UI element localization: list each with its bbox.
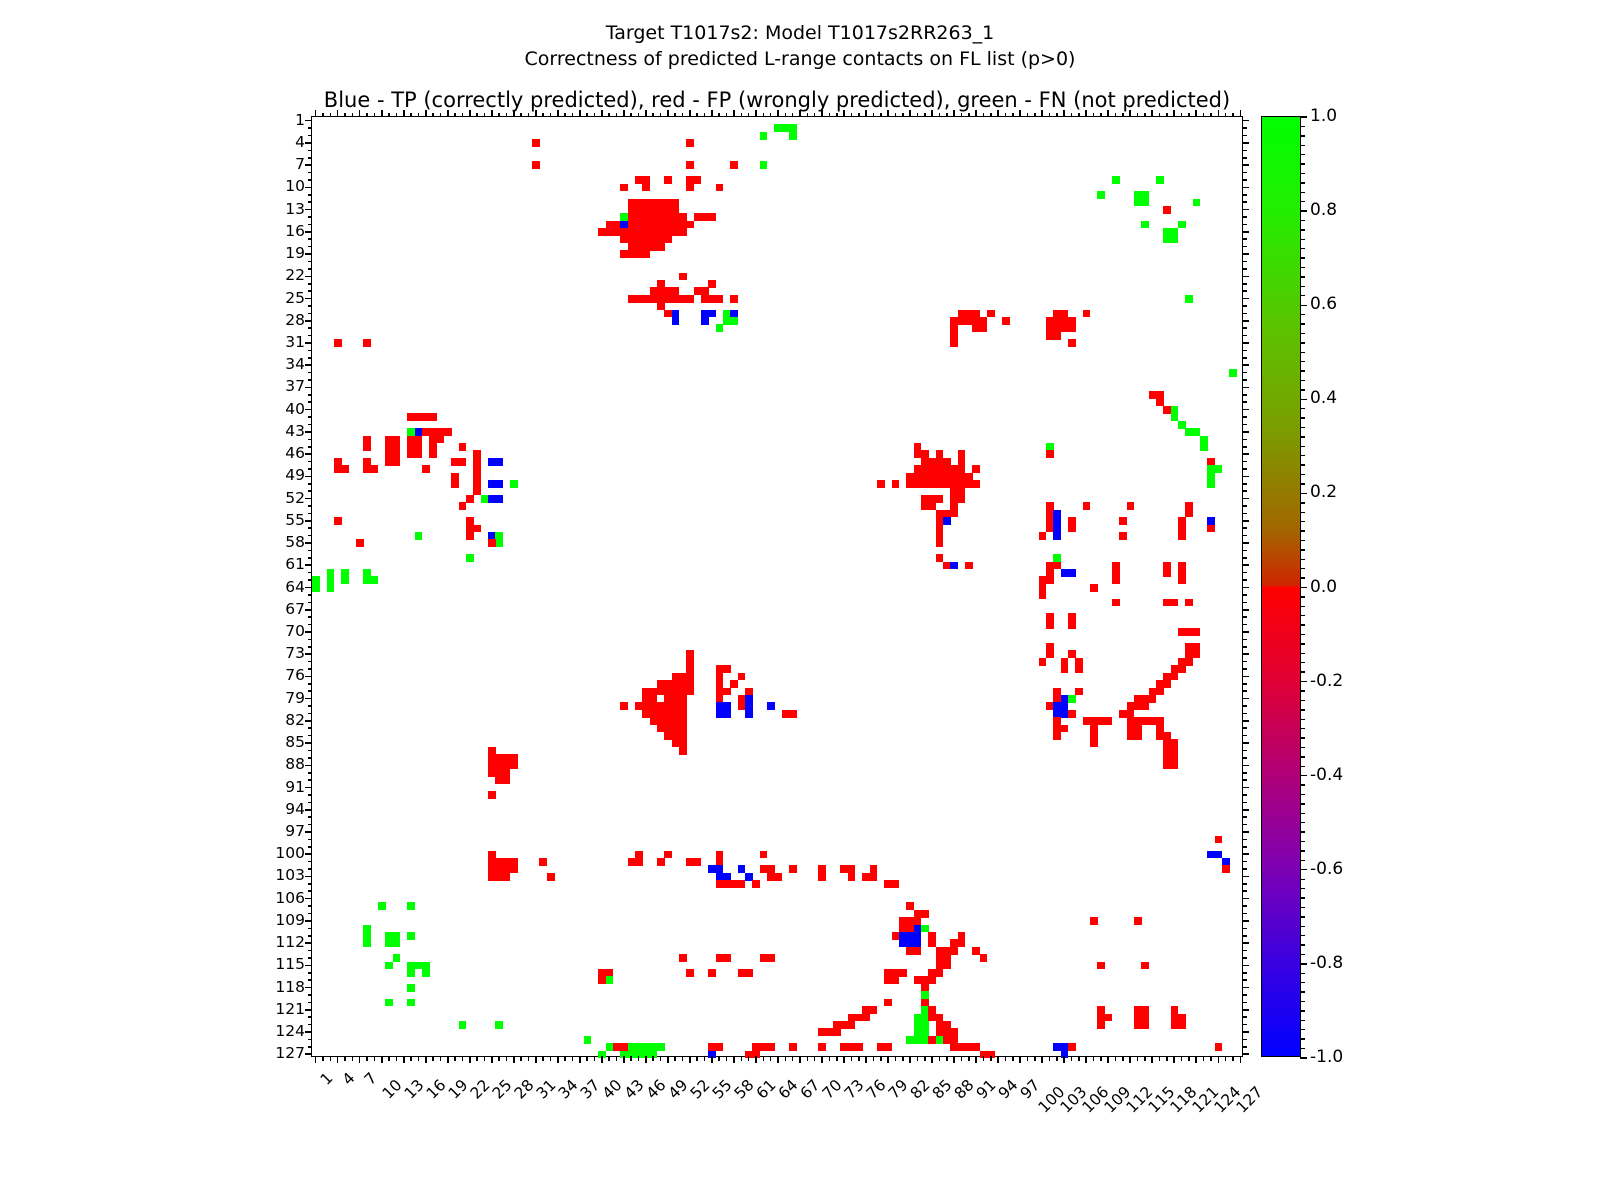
y-tick	[1242, 957, 1247, 959]
x-tick	[983, 1056, 985, 1061]
x-tick	[836, 113, 838, 118]
contact-cell-fn	[407, 999, 415, 1007]
x-tick	[520, 113, 522, 118]
y-tick	[1242, 150, 1247, 152]
y-tick	[1242, 127, 1247, 129]
colorbar-minor-tick	[1300, 474, 1305, 475]
x-tick	[352, 113, 354, 118]
x-tick	[396, 113, 398, 118]
contact-cell-fp	[789, 865, 797, 873]
x-tick	[924, 113, 926, 118]
contact-cell-fp	[488, 791, 496, 799]
y-tick	[305, 809, 312, 811]
y-axis-tick-label: 97	[285, 822, 305, 840]
x-tick	[601, 110, 603, 117]
y-tick	[305, 720, 312, 722]
y-tick	[1242, 1031, 1249, 1033]
x-tick	[520, 1056, 522, 1061]
contact-cell-fp	[422, 465, 430, 473]
y-tick	[1242, 816, 1247, 818]
y-axis-tick-label: 13	[285, 200, 305, 218]
contact-cell-fp	[334, 339, 342, 347]
x-tick	[983, 113, 985, 118]
y-tick	[305, 698, 312, 700]
contact-map-plot[interactable]	[311, 116, 1243, 1057]
figure-title-line2: Correctness of predicted L-range contact…	[0, 46, 1600, 72]
x-tick	[924, 1056, 926, 1061]
x-tick	[1166, 113, 1168, 118]
x-tick	[1159, 1056, 1161, 1061]
contact-cell-fp	[1075, 665, 1083, 673]
y-tick	[305, 142, 312, 144]
colorbar-minor-tick	[1300, 417, 1305, 418]
y-tick	[1242, 809, 1249, 811]
y-tick	[1242, 431, 1249, 433]
y-tick	[1242, 350, 1247, 352]
x-tick	[718, 113, 720, 118]
y-tick	[308, 683, 313, 685]
contact-cell-fp	[1163, 569, 1171, 577]
y-tick	[308, 639, 313, 641]
contact-cell-fp	[818, 1028, 840, 1036]
y-tick	[1242, 342, 1249, 344]
x-tick	[1181, 1056, 1183, 1061]
x-tick	[763, 1056, 765, 1061]
x-tick	[1203, 1056, 1205, 1061]
x-tick	[895, 113, 897, 118]
contact-cell-fp	[473, 450, 481, 473]
x-tick	[1122, 113, 1124, 118]
y-tick	[1242, 557, 1247, 559]
y-axis-tick-label: 64	[285, 578, 305, 596]
y-tick	[305, 320, 312, 322]
x-tick	[968, 113, 970, 118]
contact-cell-fp	[1163, 762, 1178, 770]
y-tick	[308, 816, 313, 818]
colorbar-minor-tick	[1300, 1029, 1305, 1030]
y-tick	[1242, 298, 1249, 300]
y-tick	[308, 216, 313, 218]
x-tick	[352, 1056, 354, 1061]
x-tick	[792, 1056, 794, 1061]
y-tick	[1242, 1053, 1249, 1055]
contact-cell-fp	[664, 176, 672, 184]
y-tick	[1242, 157, 1247, 159]
y-tick	[1242, 364, 1249, 366]
x-tick	[674, 1056, 676, 1061]
x-tick	[726, 1056, 728, 1061]
colorbar-minor-tick	[1300, 248, 1305, 249]
y-tick	[1242, 268, 1247, 270]
contact-cell-fp	[620, 702, 628, 710]
x-tick	[660, 1056, 662, 1061]
y-tick	[1242, 283, 1247, 285]
x-tick	[322, 1056, 324, 1061]
y-tick	[308, 283, 313, 285]
contact-cell-fn	[459, 1021, 467, 1029]
contact-cell-fp	[884, 999, 892, 1007]
colorbar-minor-tick	[1300, 719, 1305, 720]
contact-cell-fp	[877, 1043, 892, 1051]
contact-cell-fp	[1178, 628, 1200, 636]
y-tick	[308, 661, 313, 663]
colorbar-tick-label: -0.6	[1310, 859, 1343, 879]
y-tick	[1242, 564, 1249, 566]
x-tick	[887, 110, 889, 117]
x-tick	[682, 113, 684, 118]
contact-cell-fn	[393, 954, 401, 962]
colorbar-tick-label: 0.4	[1310, 388, 1337, 408]
contact-cell-fp	[1134, 917, 1142, 925]
y-tick	[305, 342, 312, 344]
x-tick	[1049, 113, 1051, 118]
colorbar-minor-tick	[1300, 286, 1305, 287]
x-tick	[344, 1056, 346, 1061]
contact-cell-fp	[1068, 1043, 1076, 1051]
colorbar-minor-tick	[1300, 747, 1305, 748]
contact-cell-fn	[1134, 191, 1149, 206]
colorbar-minor-tick	[1300, 850, 1305, 851]
contact-cell-fp	[972, 465, 980, 473]
colorbar-tick-label: 0.6	[1310, 294, 1337, 314]
colorbar-minor-tick	[1300, 568, 1305, 569]
y-tick	[1242, 750, 1247, 752]
colorbar-tick	[1300, 963, 1307, 964]
contact-cell-fn	[1229, 369, 1237, 377]
x-tick	[741, 113, 743, 118]
colorbar[interactable]	[1261, 116, 1301, 1057]
x-tick	[330, 1056, 332, 1061]
x-tick	[1100, 113, 1102, 118]
y-tick	[308, 994, 313, 996]
x-tick	[755, 110, 757, 117]
y-tick	[308, 416, 313, 418]
contact-cell-fp	[752, 880, 760, 888]
y-tick	[305, 520, 312, 522]
y-tick	[1242, 394, 1247, 396]
y-axis-tick-label: 88	[285, 755, 305, 773]
contact-cell-fp	[1083, 502, 1091, 510]
y-tick	[308, 468, 313, 470]
y-tick	[305, 653, 312, 655]
contact-cell-fp	[877, 480, 885, 488]
x-tick	[763, 113, 765, 118]
colorbar-minor-tick	[1300, 813, 1305, 814]
contact-cell-fn	[760, 132, 768, 140]
contact-cell-fp	[928, 932, 936, 947]
contact-cell-fp	[738, 673, 746, 681]
x-tick	[630, 1056, 632, 1061]
x-tick	[322, 113, 324, 118]
colorbar-minor-tick	[1300, 897, 1305, 898]
y-tick	[1242, 713, 1247, 715]
y-tick	[1242, 802, 1247, 804]
colorbar-minor-tick	[1300, 737, 1305, 738]
x-tick	[1107, 110, 1109, 117]
y-tick	[308, 979, 313, 981]
contact-cell-fp	[716, 954, 731, 962]
y-tick	[1242, 135, 1247, 137]
y-tick	[308, 624, 313, 626]
contact-cell-fp	[451, 480, 459, 488]
contact-cell-fp	[334, 517, 342, 525]
y-tick	[308, 972, 313, 974]
y-tick	[1242, 483, 1247, 485]
y-tick	[1242, 935, 1247, 937]
y-tick	[308, 513, 313, 515]
x-tick	[836, 1056, 838, 1061]
colorbar-minor-tick	[1300, 135, 1305, 136]
y-tick	[1242, 987, 1249, 989]
y-tick	[1242, 994, 1247, 996]
x-tick	[484, 1056, 486, 1061]
contact-cell-fp	[686, 969, 694, 977]
x-tick	[550, 1056, 552, 1061]
x-tick	[770, 113, 772, 118]
x-tick	[814, 1056, 816, 1061]
contact-cell-fp	[1046, 621, 1054, 629]
y-tick	[1242, 831, 1249, 833]
colorbar-minor-tick	[1300, 822, 1305, 823]
contact-cell-fn	[789, 132, 797, 140]
y-tick	[308, 483, 313, 485]
contact-cell-fp	[459, 443, 467, 451]
y-axis-tick-label: 4	[295, 133, 305, 151]
contact-cell-fn	[760, 161, 768, 169]
y-tick	[308, 839, 313, 841]
y-tick	[1242, 639, 1247, 641]
x-tick	[1129, 110, 1131, 117]
colorbar-minor-tick	[1300, 709, 1305, 710]
contact-cell-fn	[495, 1021, 503, 1029]
colorbar-tick	[1300, 399, 1307, 400]
contact-cell-fp	[1119, 532, 1127, 540]
x-tick	[829, 1056, 831, 1061]
y-axis-tick-label: 124	[275, 1022, 305, 1040]
y-tick	[1242, 572, 1247, 574]
x-tick	[410, 1056, 412, 1061]
y-tick	[308, 735, 313, 737]
contact-cell-fp	[466, 495, 474, 503]
x-tick	[447, 110, 449, 117]
y-axis-tick-label: 112	[275, 933, 305, 951]
contact-cell-fp	[1068, 621, 1076, 629]
colorbar-minor-tick	[1300, 954, 1305, 955]
contact-cell-fn	[1207, 480, 1215, 488]
x-tick	[821, 110, 823, 117]
contact-cell-fn	[363, 576, 378, 584]
x-tick	[718, 1056, 720, 1061]
colorbar-tick	[1300, 210, 1307, 211]
x-tick	[961, 113, 963, 118]
x-tick	[1203, 113, 1205, 118]
y-tick	[308, 602, 313, 604]
colorbar-tick	[1300, 116, 1307, 117]
x-tick	[462, 1056, 464, 1061]
colorbar-minor-tick	[1300, 1038, 1305, 1039]
colorbar-minor-tick	[1300, 352, 1305, 353]
y-tick	[308, 461, 313, 463]
colorbar-minor-tick	[1300, 502, 1305, 503]
x-axis-labels: 1471013161922252831343740434649525558616…	[311, 1062, 1243, 1182]
x-tick	[1078, 1056, 1080, 1061]
x-tick	[484, 113, 486, 118]
contact-cell-fn	[1163, 228, 1178, 243]
x-tick	[476, 113, 478, 118]
colorbar-minor-tick	[1300, 436, 1305, 437]
y-axis-tick-label: 1	[295, 111, 305, 129]
colorbar-tick	[1300, 869, 1307, 870]
y-tick	[305, 609, 312, 611]
contact-cell-fn	[407, 969, 415, 977]
contact-cell-fp	[906, 947, 921, 955]
y-tick	[308, 224, 313, 226]
y-tick	[308, 290, 313, 292]
contact-cell-fp	[1083, 310, 1091, 318]
x-tick	[1093, 113, 1095, 118]
contact-cell-fp	[686, 665, 694, 695]
y-axis-tick-label: 37	[285, 377, 305, 395]
contact-cell-fp	[1097, 962, 1105, 970]
contact-cell-fn	[385, 999, 393, 1007]
x-tick	[528, 1056, 530, 1061]
contact-cell-fp	[407, 436, 422, 459]
contact-cell-fp	[547, 873, 555, 881]
y-tick	[308, 913, 313, 915]
y-tick	[308, 424, 313, 426]
colorbar-minor-tick	[1300, 173, 1305, 174]
y-tick	[1242, 1024, 1247, 1026]
y-tick	[1242, 787, 1249, 789]
y-tick	[308, 957, 313, 959]
x-tick	[1041, 110, 1043, 117]
contact-cell-tp	[716, 710, 731, 718]
contact-cell-fp	[789, 1043, 797, 1051]
x-tick	[689, 110, 691, 117]
x-tick	[535, 110, 537, 117]
y-tick	[1242, 439, 1247, 441]
contact-cell-tp	[701, 317, 709, 325]
y-tick	[1242, 179, 1247, 181]
x-tick	[330, 113, 332, 118]
contact-cell-fn	[466, 554, 474, 562]
y-tick	[308, 446, 313, 448]
x-tick	[608, 113, 610, 118]
contact-cell-tp	[1053, 532, 1061, 540]
y-axis-tick-label: 91	[285, 778, 305, 796]
colorbar-minor-tick	[1300, 784, 1305, 785]
contact-cell-fp	[1127, 732, 1142, 740]
x-tick	[608, 1056, 610, 1061]
y-tick	[1242, 616, 1247, 618]
colorbar-minor-tick	[1300, 973, 1305, 974]
y-axis-tick-label: 73	[285, 644, 305, 662]
colorbar-tick-label: 0.0	[1310, 577, 1337, 597]
x-tick	[432, 1056, 434, 1061]
x-tick	[645, 110, 647, 117]
contact-cell-tp	[488, 480, 503, 488]
contact-cell-fp	[936, 539, 944, 547]
x-tick	[403, 110, 405, 117]
y-tick	[1242, 224, 1247, 226]
y-tick	[308, 750, 313, 752]
y-tick	[308, 579, 313, 581]
y-tick	[1242, 201, 1247, 203]
colorbar-minor-tick	[1300, 163, 1305, 164]
y-axis-tick-label: 25	[285, 289, 305, 307]
x-tick	[506, 113, 508, 118]
y-axis-tick-label: 40	[285, 400, 305, 418]
x-tick	[1232, 1056, 1234, 1061]
colorbar-minor-tick	[1300, 634, 1305, 635]
contact-cell-fn	[510, 480, 518, 488]
x-tick	[917, 113, 919, 118]
x-tick	[902, 1056, 904, 1061]
y-axis-tick-label: 19	[285, 244, 305, 262]
x-tick	[902, 113, 904, 118]
colorbar-minor-tick	[1300, 192, 1305, 193]
colorbar-minor-tick	[1300, 361, 1305, 362]
y-tick	[1242, 913, 1247, 915]
x-tick	[506, 1056, 508, 1061]
contact-cell-fp	[1207, 525, 1215, 533]
y-tick	[1242, 313, 1247, 315]
contact-cell-fp	[760, 954, 775, 962]
colorbar-minor-tick	[1300, 559, 1305, 560]
contact-cell-fp	[1097, 1021, 1105, 1029]
contact-cell-fn	[481, 495, 489, 503]
y-tick	[308, 727, 313, 729]
y-tick	[1242, 357, 1247, 359]
y-axis-tick-label: 106	[275, 889, 305, 907]
contact-cell-fp	[965, 562, 973, 570]
y-tick	[1242, 839, 1247, 841]
contact-cell-fp	[1141, 962, 1149, 970]
y-axis-tick-label: 16	[285, 222, 305, 240]
y-tick	[308, 794, 313, 796]
y-tick	[305, 476, 312, 478]
y-tick	[308, 846, 313, 848]
y-tick	[305, 453, 312, 455]
x-tick	[1049, 1056, 1051, 1061]
contact-cell-tp	[950, 562, 958, 570]
y-axis-tick-label: 31	[285, 333, 305, 351]
x-tick	[1071, 1056, 1073, 1061]
contact-cell-fp	[664, 851, 672, 859]
y-tick	[1242, 853, 1249, 855]
contact-cell-fp	[980, 954, 988, 962]
x-tick	[550, 113, 552, 118]
contact-cell-fp	[628, 858, 643, 866]
contact-cell-tp	[672, 310, 680, 325]
x-tick	[843, 110, 845, 117]
y-tick	[1242, 1046, 1247, 1048]
colorbar-tick-label: -0.4	[1310, 765, 1343, 785]
y-tick	[308, 238, 313, 240]
y-tick	[308, 439, 313, 441]
y-tick	[1242, 1002, 1247, 1004]
y-tick	[1242, 631, 1249, 633]
contact-cell-fn	[407, 984, 415, 992]
contact-cell-fp	[1222, 865, 1230, 873]
contact-cell-fp	[701, 295, 723, 303]
contact-cell-fp	[906, 480, 980, 488]
x-tick	[807, 113, 809, 118]
contact-cell-fp	[407, 413, 437, 421]
colorbar-minor-tick	[1300, 794, 1305, 795]
y-tick	[1242, 794, 1247, 796]
y-tick	[308, 535, 313, 537]
